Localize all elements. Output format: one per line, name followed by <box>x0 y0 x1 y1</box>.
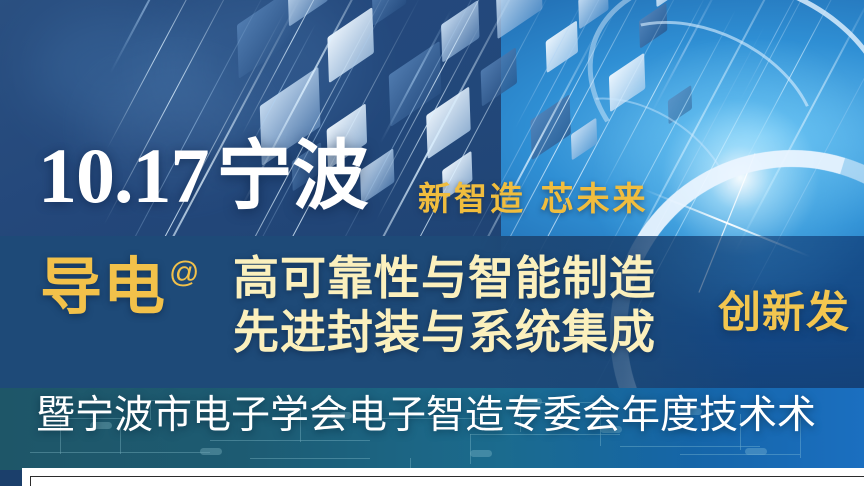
circuit-trace <box>470 434 471 464</box>
event-subtitle: 暨宁波市电子学会电子智造专委会年度技术术 <box>36 396 816 435</box>
brand-name: 导电 <box>40 256 166 318</box>
event-headline: 高可靠性与智能制造 先进封装与系统集成 <box>233 252 656 360</box>
bottom-white-panel <box>22 468 864 486</box>
light-streak <box>107 0 211 149</box>
headline-line-2: 先进封装与系统集成 <box>233 306 656 360</box>
circuit-trace <box>680 454 800 455</box>
light-streak <box>374 0 511 197</box>
circuit-pad <box>745 448 767 455</box>
circuit-pad <box>470 450 492 457</box>
circuit-pad <box>200 448 222 455</box>
circuit-trace <box>210 440 370 441</box>
light-streak <box>110 0 182 73</box>
brand-lockup: 导电 @ <box>40 256 199 318</box>
right-accent-text: 创新发 <box>718 292 850 335</box>
bottom-panel-border <box>30 476 864 486</box>
circuit-trace <box>620 446 760 447</box>
circuit-trace <box>250 458 370 459</box>
date-city-row: 10.17 宁波 <box>38 140 369 212</box>
at-symbol-icon: @ <box>169 258 199 288</box>
event-slogan: 新智造 芯未来 <box>418 172 649 220</box>
event-date: 10.17 <box>38 140 209 212</box>
conference-poster-banner: 10.17 宁波 新智造 芯未来 导电 @ 高可靠性与智能制造 先进封装与系统集… <box>0 0 864 486</box>
headline-line-1: 高可靠性与智能制造 <box>233 252 656 306</box>
event-city: 宁波 <box>217 140 369 212</box>
light-streak <box>242 0 346 135</box>
